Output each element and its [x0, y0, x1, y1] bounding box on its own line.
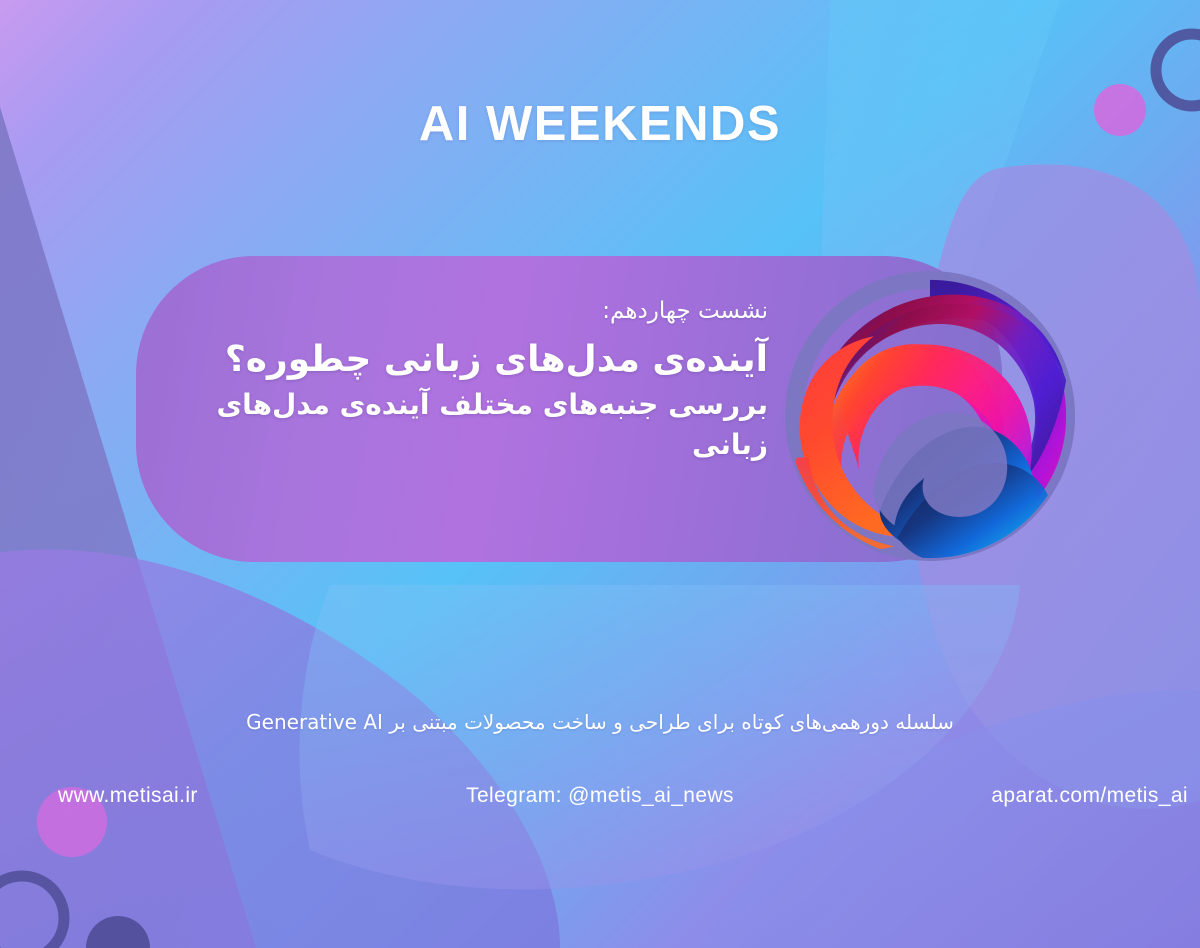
session-eyebrow: نشست چهاردهم: — [176, 298, 768, 326]
tagline: سلسله دورهمی‌های کوتاه برای طراحی و ساخت… — [0, 710, 1200, 734]
footer-aparat-link[interactable]: aparat.com/metis_ai — [991, 784, 1188, 808]
poster-canvas: AI WEEKENDS — [0, 0, 1200, 948]
session-text-block: نشست چهاردهم: آینده‌ی مدل‌های زبانی چطور… — [136, 256, 826, 562]
page-title: AI WEEKENDS — [0, 96, 1200, 152]
session-subtitle: بررسی جنبه‌های مختلف آینده‌ی مدل‌های زبا… — [176, 385, 768, 465]
footer-links: www.metisai.ir Telegram: @metis_ai_news … — [0, 784, 1200, 816]
metis-swirl-logo-icon — [782, 268, 1078, 564]
session-title: آینده‌ی مدل‌های زبانی چطوره؟ — [176, 336, 768, 384]
